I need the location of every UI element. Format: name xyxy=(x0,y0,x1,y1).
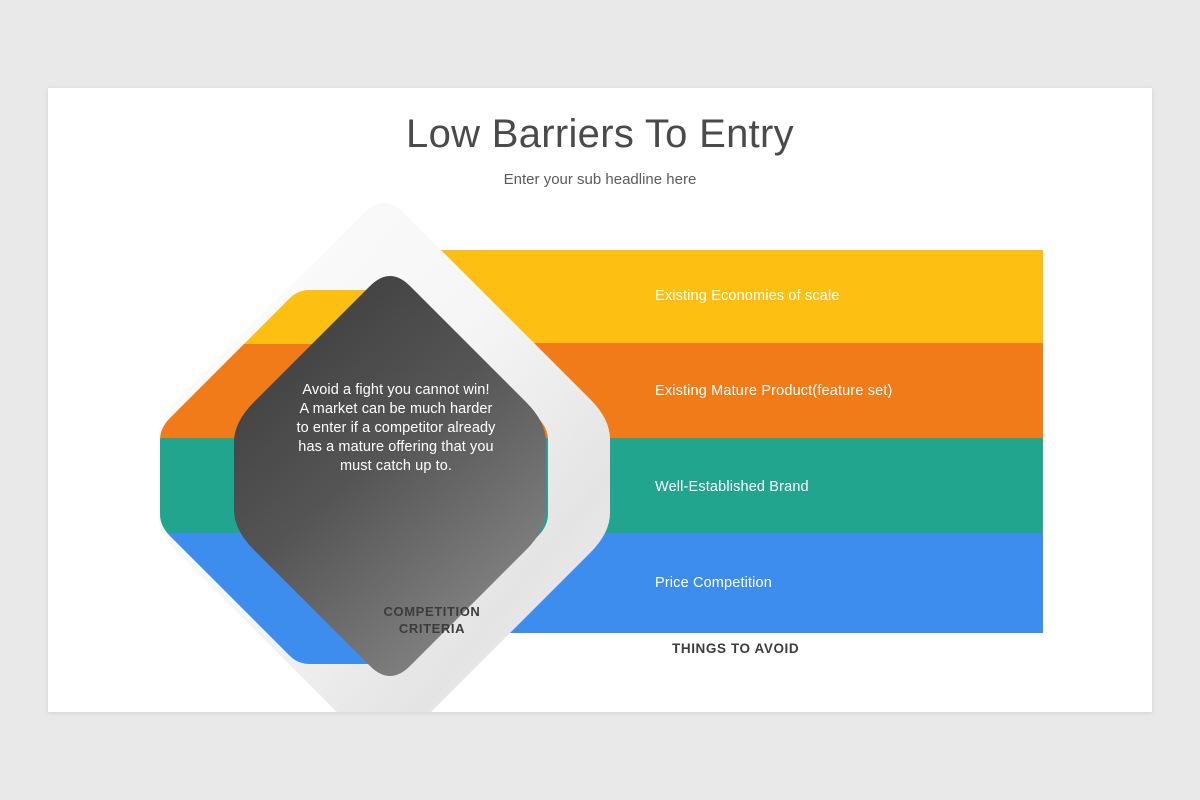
competition-criteria-line1: COMPETITION xyxy=(324,603,540,620)
bar-label-4: Price Competition xyxy=(655,575,772,591)
things-to-avoid-caption: THINGS TO AVOID xyxy=(672,641,799,656)
barriers-diagram: Avoid a fight you cannot win! A market c… xyxy=(48,88,1152,712)
bar-label-1: Existing Economies of scale xyxy=(655,288,840,304)
slide-canvas: Low Barriers To Entry Enter your sub hea… xyxy=(48,88,1152,712)
competition-criteria-caption: COMPETITION CRITERIA xyxy=(324,603,540,637)
competition-criteria-line2: CRITERIA xyxy=(324,620,540,637)
diagram-graphic xyxy=(48,88,1152,712)
center-description: Avoid a fight you cannot win! A market c… xyxy=(296,381,496,476)
bar-label-3: Well-Established Brand xyxy=(655,479,809,495)
bar-label-2: Existing Mature Product(feature set) xyxy=(655,383,893,399)
